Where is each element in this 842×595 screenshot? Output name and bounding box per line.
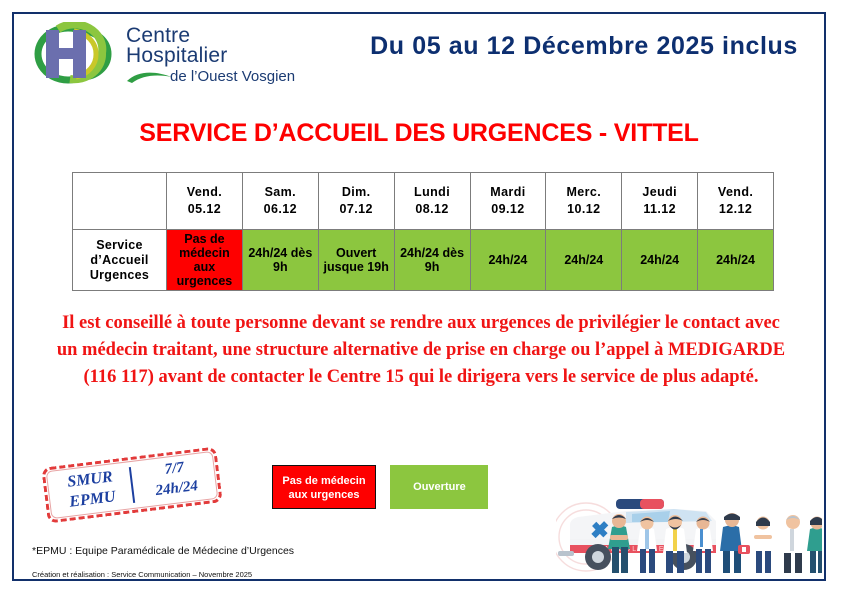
date-range-title: Du 05 au 12 Décembre 2025 inclus [344,32,824,61]
column-header-6: Jeudi 11.12 [622,173,698,230]
legend-item-closed: Pas de médecin aux urgences [272,465,376,509]
day-name: Dim. [319,184,394,201]
day-name: Vend. [167,184,242,201]
poster-page: Centre Hospitalier de l’Ouest Vosgien Du… [12,12,826,581]
page-header: Centre Hospitalier de l’Ouest Vosgien Du… [14,14,824,92]
logo-subtitle: de l’Ouest Vosgien [170,68,295,85]
day-name: Lundi [395,184,470,201]
table-header-row: Vend. 05.12 Sam. 06.12 Dim. 07.12 Lundi … [73,173,774,230]
schedule-cell-2: Ouvert jusque 19h [318,230,394,291]
schedule-table-wrapper: Vend. 05.12 Sam. 06.12 Dim. 07.12 Lundi … [72,172,774,291]
schedule-cell-0: Pas de médecin aux urgences [167,230,243,291]
schedule-cell-3: 24h/24 dès 9h [394,230,470,291]
schedule-cell-1: 24h/24 dès 9h [242,230,318,291]
day-date: 12.12 [698,201,773,218]
footnote-epmu: *EPMU : Equipe Paramédicale de Médecine … [32,545,294,557]
day-name: Merc. [546,184,621,201]
page-title: SERVICE D’ACCUEIL DES URGENCES - VITTEL [14,119,824,148]
logo-wordmark: Centre Hospitalier [126,26,227,66]
table-data-row: Service d’Accueil Urgences Pas de médeci… [73,230,774,291]
schedule-cell-6: 24h/24 [622,230,698,291]
schedule-table: Vend. 05.12 Sam. 06.12 Dim. 07.12 Lundi … [72,172,774,291]
column-header-5: Merc. 10.12 [546,173,622,230]
day-date: 05.12 [167,201,242,218]
day-date: 06.12 [243,201,318,218]
day-date: 11.12 [622,201,697,218]
schedule-cell-5: 24h/24 [546,230,622,291]
hospital-h-d-logo-icon [30,22,122,86]
day-name: Vend. [698,184,773,201]
legend: Pas de médecin aux urgences Ouverture [272,465,488,509]
day-date: 07.12 [319,201,394,218]
ambulance-and-medical-staff-illustration: AMBULANCE [556,481,822,577]
column-header-2: Dim. 07.12 [318,173,394,230]
schedule-cell-4: 24h/24 [470,230,546,291]
hospital-logo: Centre Hospitalier de l’Ouest Vosgien [30,22,310,88]
table-corner-cell [73,173,167,230]
footnote-credit: Création et réalisation : Service Commun… [32,570,252,579]
column-header-1: Sam. 06.12 [242,173,318,230]
column-header-3: Lundi 08.12 [394,173,470,230]
day-name: Jeudi [622,184,697,201]
day-date: 08.12 [395,201,470,218]
advice-paragraph: Il est conseillé à toute personne devant… [54,310,788,391]
logo-line-2: Hospitalier [126,46,227,66]
column-header-7: Vend. 12.12 [698,173,774,230]
legend-item-open: Ouverture [390,465,488,509]
column-header-0: Vend. 05.12 [167,173,243,230]
ambulance-illustration-icon: AMBULANCE [556,481,822,577]
column-header-4: Mardi 09.12 [470,173,546,230]
leaf-swoosh-icon [126,68,174,84]
day-date: 09.12 [471,201,546,218]
row-label: Service d’Accueil Urgences [73,230,167,291]
day-name: Mardi [471,184,546,201]
schedule-cell-7: 24h/24 [698,230,774,291]
day-name: Sam. [243,184,318,201]
day-date: 10.12 [546,201,621,218]
smur-epmu-stamp: SMUR EPMU 7/7 24h/24 [41,446,223,523]
